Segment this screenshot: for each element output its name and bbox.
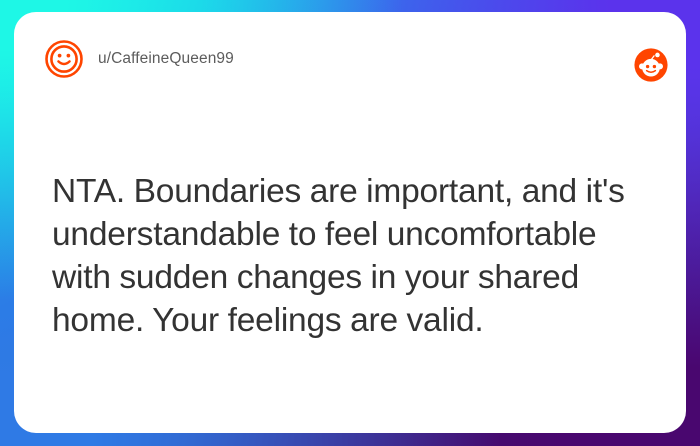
comment-body-text: NTA. Boundaries are important, and it's … xyxy=(52,170,648,342)
avatar[interactable] xyxy=(44,39,84,79)
smiley-face-icon xyxy=(44,39,84,79)
comment-header: u/CaffeineQueen99 xyxy=(44,36,660,82)
reddit-snoo-icon[interactable] xyxy=(634,48,668,82)
author-username[interactable]: u/CaffeineQueen99 xyxy=(98,50,234,68)
gradient-backdrop: u/CaffeineQueen99 NTA. Boundaries are im… xyxy=(0,0,700,446)
reddit-comment-card: u/CaffeineQueen99 NTA. Boundaries are im… xyxy=(14,12,686,433)
